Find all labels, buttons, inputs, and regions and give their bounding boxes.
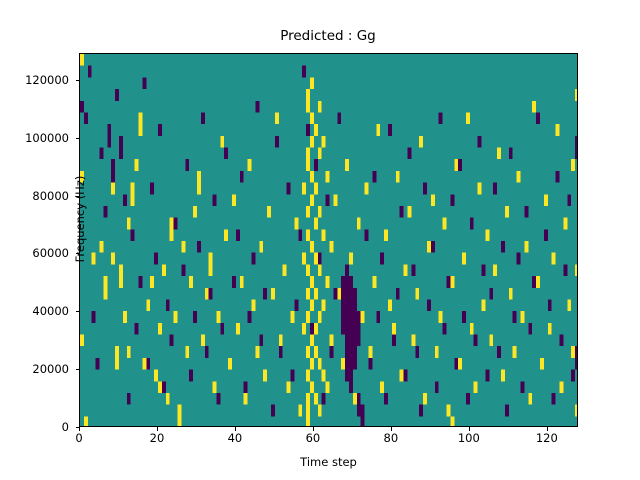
y-axis-tick-label: 40000 <box>7 305 69 317</box>
x-axis-tick-label: 120 <box>517 432 577 445</box>
x-axis-tick-mark <box>79 427 80 431</box>
x-axis-tick-label: 40 <box>205 432 265 445</box>
x-axis-tick-mark <box>157 427 158 431</box>
x-axis-tick-label: 100 <box>439 432 499 445</box>
heatmap-canvas <box>80 54 578 427</box>
y-axis-tick-mark <box>76 196 80 197</box>
y-axis-tick-mark <box>76 311 80 312</box>
x-axis-tick-mark <box>235 427 236 431</box>
y-axis-tick-label: 80000 <box>7 190 69 202</box>
heatmap-plot-area <box>79 53 578 427</box>
matplotlib-figure: Predicted : Gg Frequency (Hz) Time step … <box>0 0 640 480</box>
x-axis-tick-mark <box>313 427 314 431</box>
x-axis-tick-mark <box>469 427 470 431</box>
x-axis-label: Time step <box>79 455 578 469</box>
y-axis-tick-mark <box>76 253 80 254</box>
y-axis-label: Frequency (Hz) <box>73 119 87 319</box>
x-axis-tick-mark <box>391 427 392 431</box>
y-axis-tick-label: 100000 <box>7 132 69 144</box>
y-axis-tick-label: 20000 <box>7 363 69 375</box>
y-axis-tick-label: 60000 <box>7 247 69 259</box>
x-axis-tick-label: 0 <box>49 432 109 445</box>
page-title: Predicted : Gg <box>78 28 578 44</box>
x-axis-tick-label: 20 <box>127 432 187 445</box>
y-axis-tick-mark <box>76 369 80 370</box>
x-axis-tick-label: 60 <box>283 432 343 445</box>
y-axis-tick-mark <box>76 138 80 139</box>
x-axis-tick-label: 80 <box>361 432 421 445</box>
y-axis-tick-label: 120000 <box>7 74 69 86</box>
x-axis-tick-mark <box>547 427 548 431</box>
y-axis-tick-mark <box>76 80 80 81</box>
